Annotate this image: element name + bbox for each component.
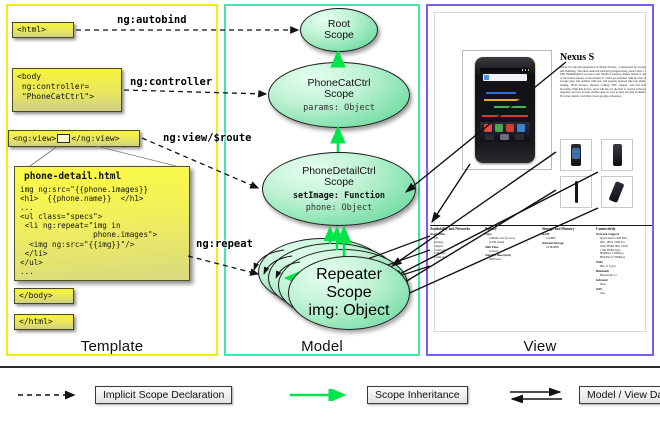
legend-double-arrow-icon xyxy=(508,387,570,403)
scope-repeater-prop-img: img: Object xyxy=(309,302,390,320)
scope-detail-prop-phone: phone: Object xyxy=(306,203,373,213)
ngview-close-tag: </ng:view> xyxy=(71,134,119,144)
label-ng-autobind: ng:autobind xyxy=(117,14,187,26)
spec-column-battery: Battery Type Lithium Ion (Li-Ion) (1500 … xyxy=(485,228,537,262)
scope-detail-prop-setimage: setImage: Function xyxy=(293,191,385,201)
scope-root-line2: Scope xyxy=(324,30,354,42)
app-icon-3 xyxy=(506,124,514,132)
scope-phonedetailctrl: PhoneDetailCtrl Scope setImage: Function… xyxy=(262,152,416,226)
column-label-template: Template xyxy=(6,338,218,355)
code-body-open: <body ng:controller= "PhoneCatCtrl"> xyxy=(12,68,122,112)
legend: Implicit Scope Declaration Scope Inherit… xyxy=(0,366,660,422)
thumb-phone-angle xyxy=(609,181,625,203)
nav-button-browser xyxy=(515,134,524,140)
scope-repeater-line2: Scope xyxy=(326,284,371,302)
spec-value-gps: true xyxy=(596,292,652,296)
nav-button-apps xyxy=(500,134,509,140)
scope-cat-line2: Scope xyxy=(324,89,354,101)
thumbnail-2[interactable] xyxy=(601,139,633,171)
thumbnail-1[interactable] xyxy=(560,139,592,171)
spec-heading-battery: Battery xyxy=(485,228,537,232)
spec-heading-storage: Storage and Memory xyxy=(542,228,594,232)
spec-table: Availability and Networks Availability M… xyxy=(430,228,652,306)
code-body-close: </body> xyxy=(14,288,74,304)
wallpaper-line-4 xyxy=(482,115,528,117)
column-label-model: Model xyxy=(224,338,420,355)
column-label-view: View xyxy=(426,338,654,355)
thumb-phone-screen xyxy=(572,148,580,159)
legend-label-inheritance: Scope Inheritance xyxy=(367,386,468,404)
spec-value-infrared: false xyxy=(596,283,652,287)
label-ng-controller: ng:controller xyxy=(130,76,212,88)
spec-value-availability: MS Orange, Singtel, Vodafone T-Mobile, V… xyxy=(430,237,482,260)
callout-phone-detail-html: phone-detail.html img ng:src="{{phone.im… xyxy=(14,166,190,281)
thumb-phone-back xyxy=(613,144,622,166)
spec-column-storage: Storage and Memory RAM 512MB Internal St… xyxy=(542,228,594,250)
product-title: Nexus S xyxy=(560,52,648,63)
wallpaper-line-3 xyxy=(494,106,526,108)
callout-code: img ng:src="{{phone.images}} <h1> {{phon… xyxy=(20,185,184,276)
legend-dashed-arrow-icon xyxy=(16,389,86,401)
spec-value-network: Quad-band GSM 850, 900, 1800, 1900 Tri- … xyxy=(596,237,652,260)
scope-cat-prop-params: params: Object xyxy=(303,103,375,113)
legend-item-implicit: Implicit Scope Declaration xyxy=(16,386,232,404)
app-icon-1 xyxy=(484,124,492,132)
callout-title: phone-detail.html xyxy=(24,171,184,182)
phone-status-bar xyxy=(480,68,530,72)
phone-search-widget xyxy=(483,74,527,81)
wallpaper-line-1 xyxy=(486,92,516,94)
legend-item-inheritance: Scope Inheritance xyxy=(288,386,468,404)
spec-value-battery-type: Lithium Ion (Li-Ion) (1500 mAh) xyxy=(485,237,537,245)
app-icon-2 xyxy=(495,124,503,132)
spec-column-connectivity: Connectivity Network Support Quad-band G… xyxy=(596,228,652,296)
phone-image-frame xyxy=(462,50,552,170)
scope-repeater-line1: Repeater xyxy=(316,266,382,284)
code-html-close: </html> xyxy=(14,314,74,330)
nav-button-phone xyxy=(485,134,494,140)
app-icon-4 xyxy=(517,124,525,132)
thumbnail-3[interactable] xyxy=(560,176,592,208)
thumb-phone-side xyxy=(575,181,578,203)
ngview-open-tag: <ng:view> xyxy=(13,134,56,144)
code-html-open: <html> xyxy=(12,22,74,38)
phone-dock xyxy=(480,122,530,142)
spec-value-standby: 428 hours xyxy=(485,258,537,262)
legend-label-databinding: Model / View Data-binding xyxy=(579,386,660,404)
product-description: Nexus S is the next generation of Nexus … xyxy=(560,66,646,126)
legend-item-databinding: Model / View Data-binding xyxy=(508,386,660,404)
spec-value-internal-storage: 16384MB xyxy=(542,246,594,250)
scope-repeater: Repeater Scope img: Object xyxy=(288,256,410,330)
legend-label-implicit: Implicit Scope Declaration xyxy=(95,386,232,404)
phone-screen xyxy=(480,68,530,142)
scope-root: Root Scope xyxy=(300,8,378,52)
code-ngview-element: <ng:view></ng:view> xyxy=(8,130,140,147)
diagram-canvas: <html> <body ng:controller= "PhoneCatCtr… xyxy=(0,0,660,420)
spec-table-rule xyxy=(430,225,652,226)
scope-detail-line2: Scope xyxy=(324,177,354,189)
legend-green-arrow-icon xyxy=(288,389,358,401)
spec-column-availability: Availability and Networks Availability M… xyxy=(430,228,482,260)
label-ng-view-route: ng:view/$route xyxy=(163,132,252,144)
scope-phonecatctrl: PhoneCatCtrl Scope params: Object xyxy=(268,62,410,128)
thumbnail-4[interactable] xyxy=(601,176,633,208)
ngview-placeholder-rect xyxy=(57,134,70,143)
label-ng-repeat: ng:repeat xyxy=(196,238,253,250)
wallpaper-line-2 xyxy=(484,99,520,101)
phone-device-image xyxy=(475,57,535,163)
